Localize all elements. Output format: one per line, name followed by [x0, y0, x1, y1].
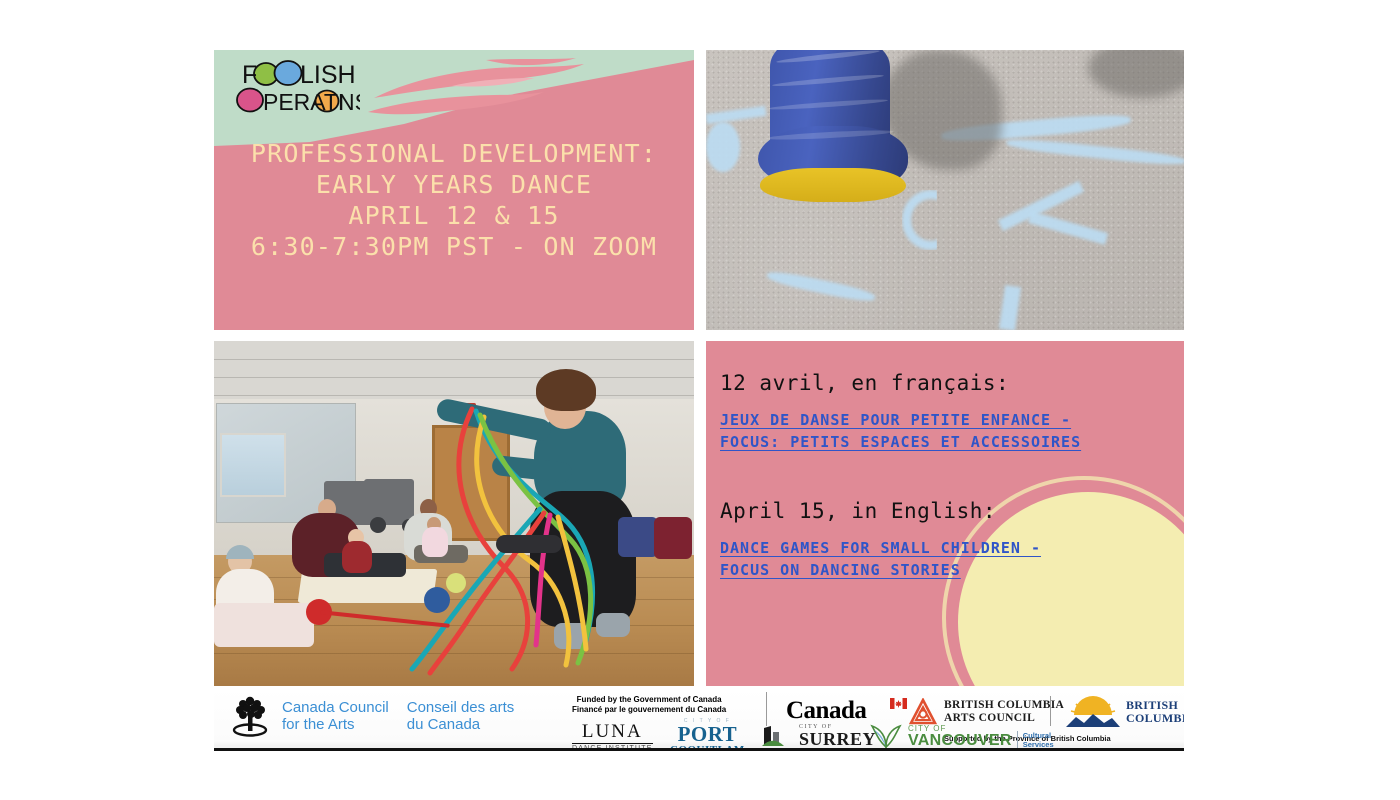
canada-wordmark: Canada	[786, 697, 866, 725]
session-1-link-line-1[interactable]: JEUX DE DANSE POUR PETITE ENFANCE -	[720, 409, 1170, 431]
sessions-panel: 12 avril, en français: JEUX DE DANSE POU…	[706, 341, 1184, 686]
title-line-2: EARLY YEARS DANCE	[214, 169, 694, 200]
studio-ceiling	[214, 341, 694, 399]
vc-line2: Services	[1023, 740, 1054, 749]
session-1-link-line-2[interactable]: FOCUS: PETITS ESPACES ET ACCESSOIRES	[720, 431, 1170, 453]
bc-government-logo: BRITISH COLUMBIA	[1066, 696, 1184, 728]
luna-subtitle: DANCE INSTITUTE	[572, 745, 653, 751]
bc-arts-council-logo: BRITISH COLUMBIA ARTS COUNCIL	[909, 698, 1064, 726]
vancouver-leaf-icon	[869, 723, 903, 749]
canada-council-logo: Canada Council for the Arts Conseil des …	[228, 694, 514, 738]
cc-en-line2: for the Arts	[282, 716, 389, 733]
backpack	[654, 517, 692, 559]
bc-sun-mountain-icon	[1066, 696, 1120, 728]
vc-line1: Cultural	[1023, 731, 1054, 740]
session-2-heading: April 15, in English:	[720, 499, 1170, 523]
title-line-4: 6:30-7:30PM PST - ON ZOOM	[214, 231, 694, 262]
vancouver-main: VANCOUVER	[908, 733, 1012, 749]
surrey-skyline-icon	[762, 724, 796, 748]
svg-text:LISH: LISH	[300, 61, 356, 89]
session-2-link-line-2[interactable]: FOCUS ON DANCING STORIES	[720, 559, 1170, 581]
photo-dance-class-with-ribbons	[214, 341, 694, 686]
sessions-content: 12 avril, en français: JEUX DE DANSE POU…	[720, 371, 1170, 581]
blue-rain-boot	[754, 50, 906, 220]
canada-council-wordmark: Canada Council for the Arts Conseil des …	[282, 699, 514, 733]
photo-child-boots-on-chalk-drawing	[706, 50, 1184, 330]
bcgov-line2: COLUMBIA	[1126, 712, 1184, 725]
title-block: PROFESSIONAL DEVELOPMENT: EARLY YEARS DA…	[214, 138, 694, 262]
gov-line-en: Funded by the Government of Canada	[572, 695, 726, 705]
cc-en-line1: Canada Council	[282, 699, 389, 716]
blanket	[214, 603, 314, 647]
city-of-vancouver-logo: CITY OF VANCOUVER Cultural Services	[869, 723, 1054, 749]
surrey-main: SURREY	[799, 730, 876, 748]
gov-line-fr: Financé par le gouvernement du Canada	[572, 705, 726, 715]
toy-ball	[446, 573, 466, 593]
svg-text:PERATI: PERATI	[263, 89, 344, 115]
session-2-link-line-1[interactable]: DANCE GAMES FOR SMALL CHILDREN -	[720, 537, 1170, 559]
divider	[766, 692, 767, 726]
cc-fr-line2: du Canada	[407, 716, 515, 733]
pc-main: PORT	[670, 724, 745, 744]
title-line-1: PROFESSIONAL DEVELOPMENT:	[214, 138, 694, 169]
port-coquitlam-logo: C I T Y O F PORT COQUITLAM	[670, 718, 745, 751]
studio-window	[220, 433, 286, 497]
luna-name: LUNA	[572, 722, 653, 744]
title-line-3: APRIL 12 & 15	[214, 200, 694, 231]
bcac-line1: BRITISH COLUMBIA	[944, 699, 1064, 712]
svg-text:NS: NS	[338, 89, 360, 115]
government-funding-note: Funded by the Government of Canada Finan…	[572, 695, 726, 715]
chalk-mark	[706, 122, 740, 172]
backpack	[618, 517, 658, 557]
svg-text:F: F	[242, 61, 257, 89]
canada-council-tree-icon	[228, 694, 272, 738]
vancouver-cultural-services: Cultural Services	[1017, 731, 1054, 749]
bc-arts-council-triangle-icon	[909, 698, 937, 726]
bolster	[496, 535, 562, 553]
cc-fr-line1: Conseil des arts	[407, 699, 515, 716]
divider	[1050, 696, 1051, 726]
session-1-heading: 12 avril, en français:	[720, 371, 1170, 395]
luna-dance-institute-logo: LUNA DANCE INSTITUTE	[572, 722, 653, 751]
poster: F LISH PERATI NS PROFESSIONAL DEVELOPMEN…	[214, 50, 1184, 748]
blue-ball	[424, 587, 450, 613]
city-of-surrey-logo: CITY OF SURREY	[762, 724, 876, 748]
canada-flag-icon	[890, 698, 907, 709]
funders-footer: Canada Council for the Arts Conseil des …	[214, 690, 1184, 751]
foolish-operations-logo: F LISH PERATI NS	[230, 56, 360, 118]
pc-sub: COQUITLAM	[670, 744, 745, 751]
title-panel: F LISH PERATI NS PROFESSIONAL DEVELOPMEN…	[214, 50, 694, 330]
